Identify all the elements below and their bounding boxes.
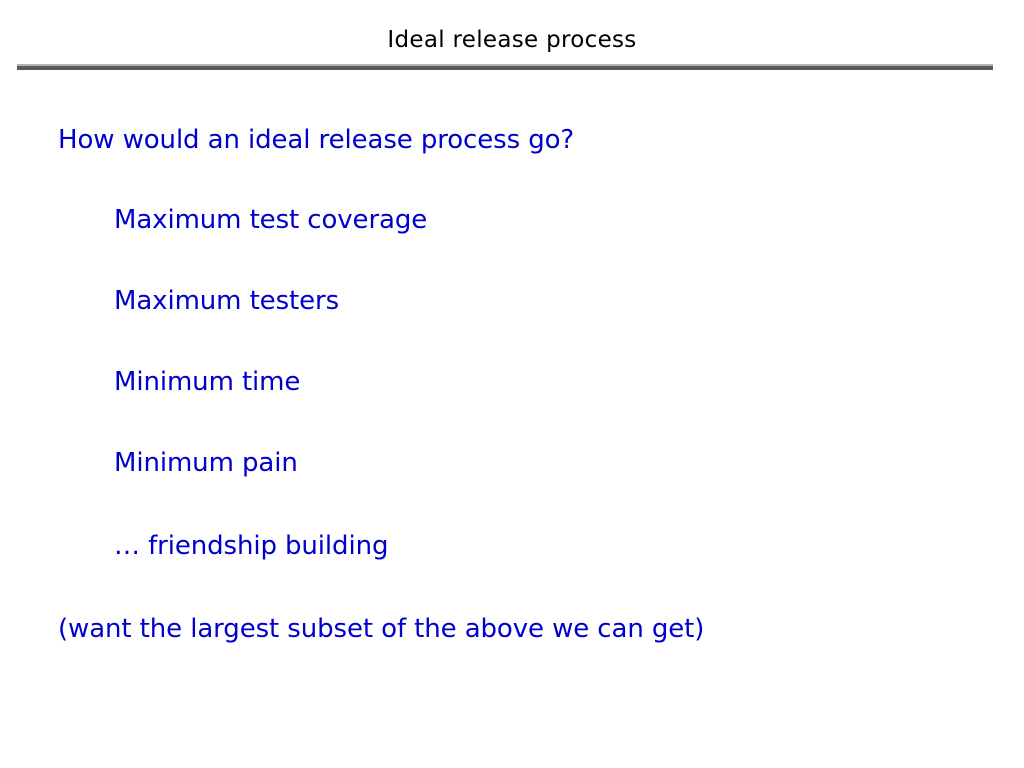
body-outro-line: (want the largest subset of the above we… (58, 614, 704, 644)
slide: Ideal release process How would an ideal… (0, 0, 1024, 768)
body-intro-line: How would an ideal release process go? (58, 125, 574, 155)
body-list-item: Maximum testers (114, 286, 339, 316)
body-list-item: … friendship building (114, 531, 388, 561)
body-list-item: Minimum pain (114, 448, 298, 478)
body-list-item: Minimum time (114, 367, 300, 397)
slide-body: How would an ideal release process go? M… (0, 0, 1024, 768)
body-list-item: Maximum test coverage (114, 205, 427, 235)
